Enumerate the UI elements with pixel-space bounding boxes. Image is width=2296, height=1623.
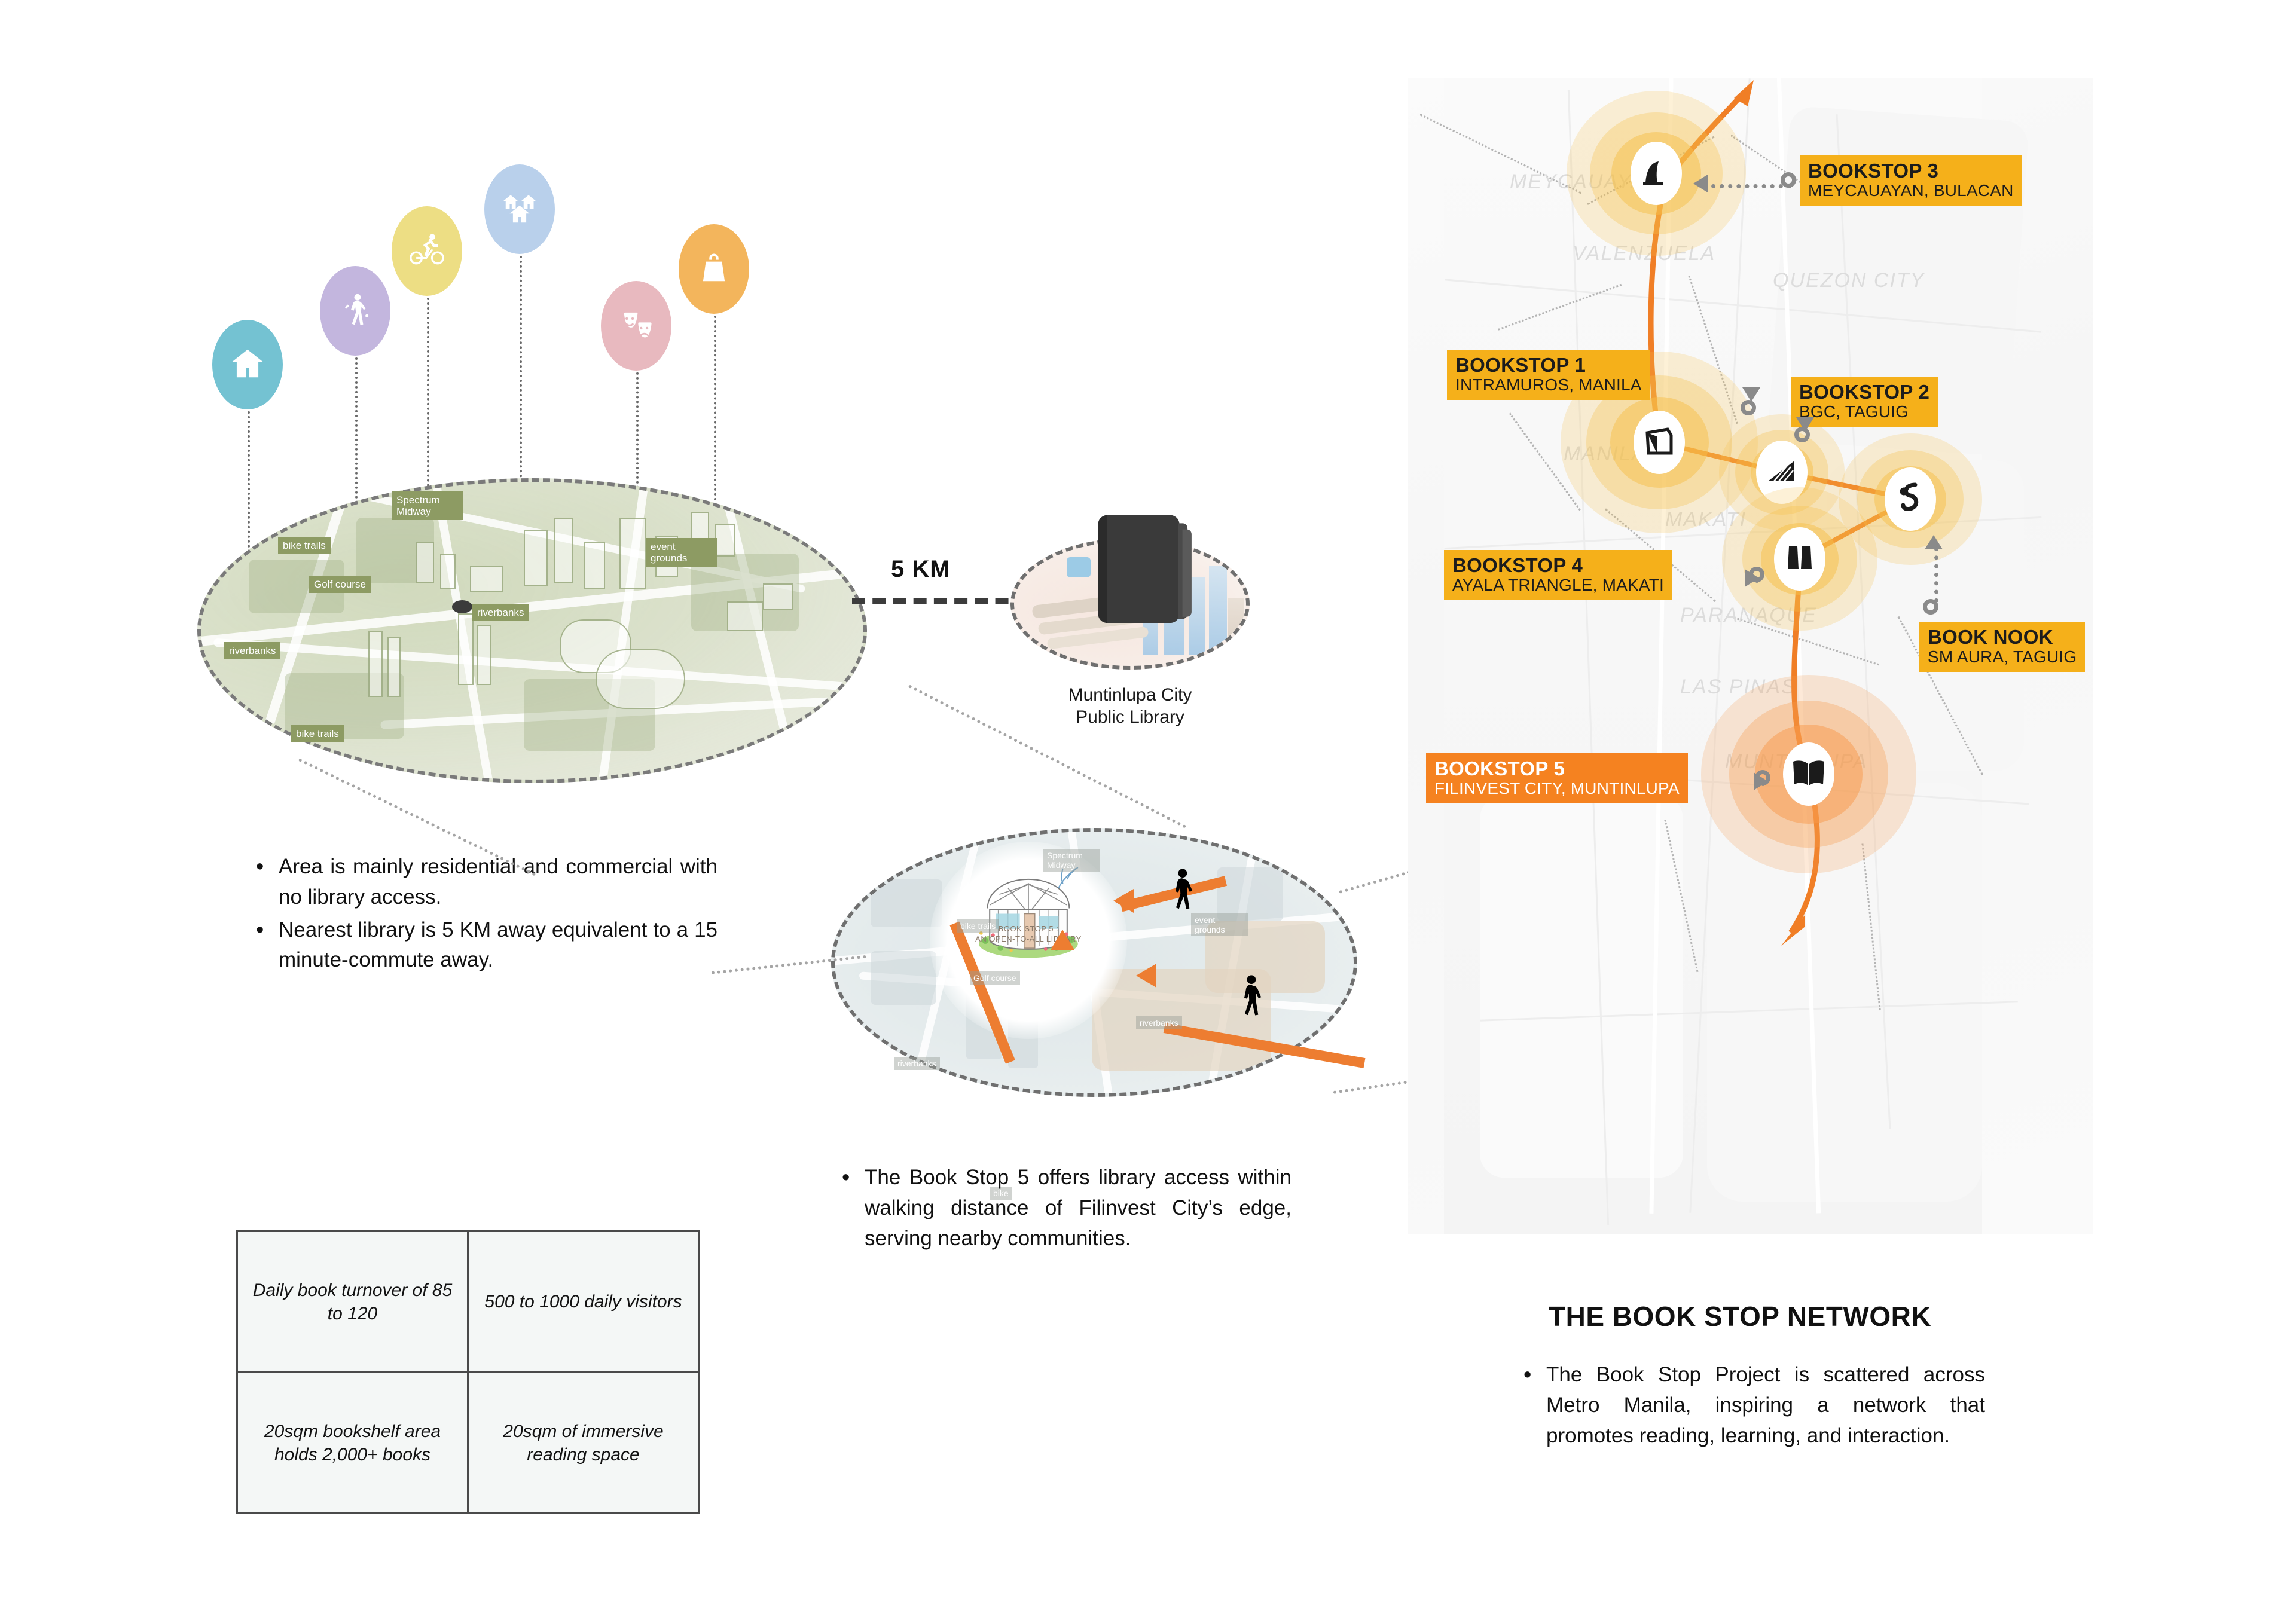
node-core xyxy=(1774,527,1825,591)
detail-area-label: riverbanks xyxy=(894,1057,940,1070)
approach-arrowhead-bottom xyxy=(1051,930,1074,950)
stats-cell: 500 to 1000 daily visitors xyxy=(468,1231,699,1373)
detail-area-label: Spectrum Midway xyxy=(1043,849,1100,872)
theater-masks-icon xyxy=(618,306,655,346)
open-book-icon xyxy=(1790,758,1828,791)
map-label-subtitle: FILINVEST CITY, MUNTINLUPA xyxy=(1434,780,1680,797)
golfer-icon xyxy=(337,291,374,331)
map-label-title: BOOKSTOP 5 xyxy=(1434,759,1680,779)
shopping-bag-icon xyxy=(695,249,732,289)
map-label-subtitle: INTRAMUROS, MANILA xyxy=(1455,377,1642,394)
leader-arrowhead xyxy=(1742,387,1760,402)
amenity-pin-culture[interactable] xyxy=(601,281,671,371)
detail-area-label: event grounds xyxy=(1191,913,1248,936)
book-icon xyxy=(1093,509,1195,635)
site-area-label: riverbanks xyxy=(472,604,529,621)
network-bullets: The Book Stop Project is scattered acros… xyxy=(1519,1360,1985,1451)
network-bullet-item: The Book Stop Project is scattered acros… xyxy=(1519,1360,1985,1451)
map-label-subtitle: BGC, TAGUIG xyxy=(1799,404,1929,421)
library-caption-line1: Muntinlupa City xyxy=(1068,685,1192,705)
distance-label: 5 KM xyxy=(891,556,951,583)
context-bullets: Area is mainly residential and commercia… xyxy=(251,852,717,976)
stats-row: 20sqm bookshelf area holds 2,000+ books2… xyxy=(237,1373,699,1514)
map-label-title: BOOKSTOP 1 xyxy=(1455,355,1642,375)
library-caption: Muntinlupa City Public Library xyxy=(1010,684,1250,728)
detail-area-label: riverbanks xyxy=(1136,1016,1182,1029)
detail-bullet-item: The Book Stop 5 offers library access wi… xyxy=(837,1163,1291,1254)
approach-arrowhead-right xyxy=(1136,964,1156,988)
leader-line xyxy=(1703,184,1791,188)
map-label-title: BOOKSTOP 3 xyxy=(1808,161,2014,181)
leader-dot xyxy=(1781,172,1796,188)
site-area-label: event grounds xyxy=(646,538,717,567)
leader-arrowhead xyxy=(1693,175,1708,192)
context-bullet-item: Nearest library is 5 KM away equivalent … xyxy=(251,915,717,976)
leader-arrowhead xyxy=(1925,535,1943,549)
home-icon xyxy=(229,345,266,385)
pavilion-caption-line1: BOOK STOP 5 : xyxy=(999,924,1059,933)
map-label-bookstop-4[interactable]: BOOKSTOP 4AYALA TRIANGLE, MAKATI xyxy=(1444,550,1672,600)
detail-bullets: The Book Stop 5 offers library access wi… xyxy=(837,1163,1291,1254)
stats-cell: 20sqm of immersive reading space xyxy=(468,1373,699,1514)
ramp-pavilion-icon xyxy=(1638,158,1674,189)
context-bullet-item: Area is mainly residential and commercia… xyxy=(251,852,717,913)
map-node-bookstop-3[interactable] xyxy=(1567,84,1746,263)
stats-cell: 20sqm bookshelf area holds 2,000+ books xyxy=(237,1373,468,1514)
stats-table: Daily book turnover of 85 to 120500 to 1… xyxy=(236,1230,700,1514)
node-core xyxy=(1634,411,1685,474)
site-origin-marker xyxy=(452,600,472,613)
leader-dot xyxy=(1741,400,1756,415)
site-area-label: bike trails xyxy=(291,725,344,742)
map-label-subtitle: MEYCAUAYAN, BULACAN xyxy=(1808,182,2014,200)
houses-icon xyxy=(501,189,538,230)
site-area-label: Golf course xyxy=(309,576,371,593)
approach-arrowhead-top xyxy=(1113,889,1134,913)
map-label-bookstop-5[interactable]: BOOKSTOP 5FILINVEST CITY, MUNTINLUPA xyxy=(1426,753,1688,803)
pedestrian-icon xyxy=(1238,974,1264,1023)
map-label-title: BOOK NOOK xyxy=(1928,627,2077,647)
node-core xyxy=(1631,142,1682,205)
map-label-bookstop-1[interactable]: BOOKSTOP 1INTRAMUROS, MANILA xyxy=(1447,350,1650,400)
leader-line xyxy=(1934,547,1938,603)
amenity-pin-golf[interactable] xyxy=(320,266,390,356)
library-caption-line2: Public Library xyxy=(1076,707,1184,727)
amenity-pin-bike[interactable] xyxy=(392,206,462,296)
map-label-book-nook[interactable]: BOOK NOOKSM AURA, TAGUIG xyxy=(1919,622,2085,672)
leader-arrowhead xyxy=(1796,417,1814,432)
amenity-pin-retail[interactable] xyxy=(679,224,749,314)
amenity-pin-neighbourhood[interactable] xyxy=(484,164,555,254)
detail-area-label: Golf course xyxy=(970,971,1020,985)
amenity-pin-home[interactable] xyxy=(212,320,283,409)
metro-manila-map: MEYCAUAYANVALENZUELAQUEZON CITYMANILAMAK… xyxy=(1408,78,2093,1234)
cyclist-icon xyxy=(408,231,445,271)
site-area-label: bike trails xyxy=(278,537,331,554)
map-label-title: BOOKSTOP 4 xyxy=(1452,555,1664,576)
network-title: THE BOOK STOP NETWORK xyxy=(1549,1300,1931,1332)
open-book-pages-icon xyxy=(1784,543,1815,576)
map-node-bookstop-4[interactable] xyxy=(1722,481,1877,637)
detail-area-label: bike trails xyxy=(957,919,999,933)
leader-arrowhead xyxy=(1745,569,1759,587)
stats-cell: Daily book turnover of 85 to 120 xyxy=(237,1231,468,1373)
stats-row: Daily book turnover of 85 to 120500 to 1… xyxy=(237,1231,699,1373)
map-label-subtitle: AYALA TRIANGLE, MAKATI xyxy=(1452,577,1664,594)
map-label-subtitle: SM AURA, TAGUIG xyxy=(1928,649,2077,666)
pedestrian-icon xyxy=(1169,868,1195,917)
site-area-label: Spectrum Midway xyxy=(392,491,463,520)
spiral-nook-icon xyxy=(1895,481,1926,518)
node-core xyxy=(1885,467,1936,531)
leader-dot xyxy=(1923,599,1938,615)
map-label-bookstop-3[interactable]: BOOKSTOP 3MEYCAUAYAN, BULACAN xyxy=(1800,155,2022,206)
amenity-pin-layer xyxy=(0,0,933,538)
map-label-title: BOOKSTOP 2 xyxy=(1799,382,1929,402)
map-node-bookstop-5[interactable] xyxy=(1701,667,1916,882)
node-core xyxy=(1783,742,1834,806)
site-area-label: riverbanks xyxy=(224,642,280,659)
leader-arrowhead xyxy=(1754,772,1768,790)
folded-book-icon xyxy=(1641,426,1677,460)
